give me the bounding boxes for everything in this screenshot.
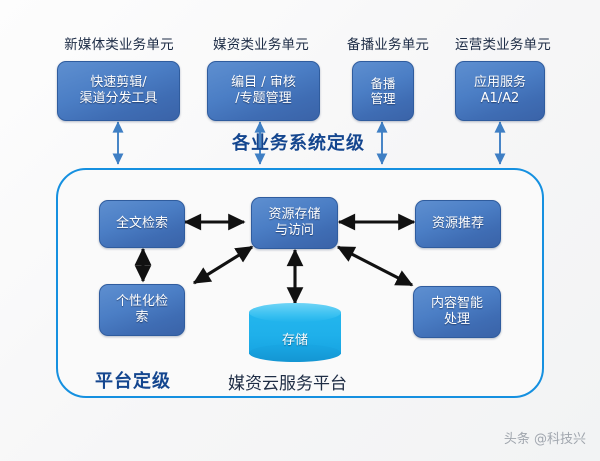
platform-node-resource-storage-access[interactable]: 资源存储与访问 [251, 197, 338, 249]
business-box-operations[interactable]: 应用服务A1/A2 [455, 61, 545, 121]
unit-caption-operations: 运营类业务单元 [440, 33, 566, 53]
unit-caption-media: 媒资类业务单元 [198, 33, 324, 53]
platform-node-full-text-search[interactable]: 全文检索 [99, 200, 185, 248]
business-box-prebroadcast[interactable]: 备播管理 [352, 61, 414, 121]
platform-node-personalized-search[interactable]: 个性化检索 [99, 284, 185, 336]
platform-name-label: 媒资云服务平台 [228, 369, 347, 394]
cylinder-top-ellipse [249, 303, 341, 322]
unit-caption-newmedia: 新媒体类业务单元 [48, 33, 190, 53]
business-box-media[interactable]: 编目 / 审核/专题管理 [207, 61, 320, 121]
heading-platform-grading: 平台定级 [95, 367, 171, 393]
storage-cylinder[interactable]: 存储 [249, 303, 341, 361]
storage-label: 存储 [249, 329, 341, 348]
architecture-diagram: 新媒体类业务单元 媒资类业务单元 备播业务单元 运营类业务单元 快速剪辑/渠道分… [0, 0, 600, 461]
arrow-resourcestore-to-contentprocess [338, 247, 412, 285]
watermark: 头条 @科技兴 [504, 428, 586, 447]
platform-node-resource-recommend[interactable]: 资源推荐 [415, 200, 501, 248]
heading-business-system-grading: 各业务系统定级 [232, 129, 365, 155]
unit-caption-prebroadcast: 备播业务单元 [332, 33, 444, 53]
business-box-newmedia[interactable]: 快速剪辑/渠道分发工具 [57, 61, 180, 121]
arrow-personalized-to-resourcestore [194, 247, 252, 283]
platform-node-content-intelligent-processing[interactable]: 内容智能处理 [413, 286, 501, 338]
